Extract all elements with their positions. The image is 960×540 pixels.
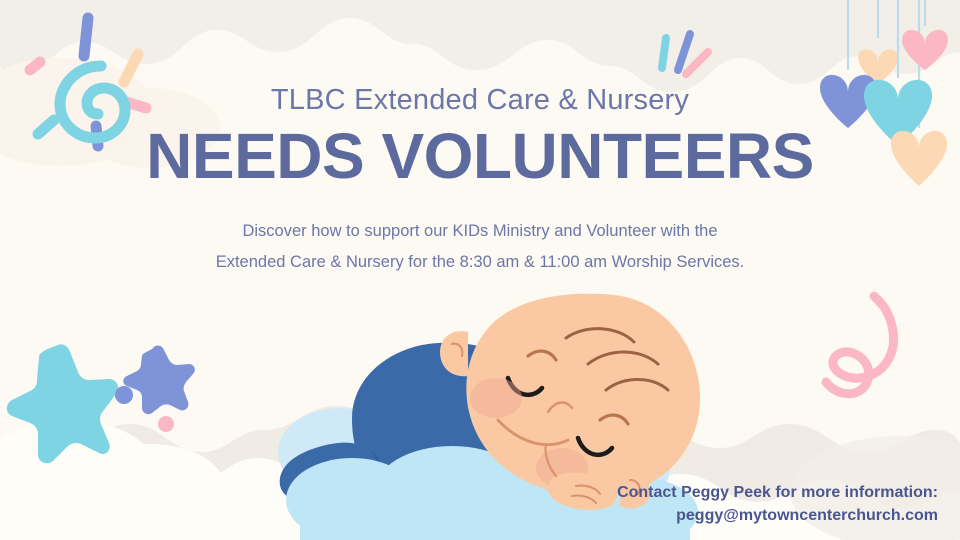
contact-line-1: Contact Peggy Peek for more information:	[617, 481, 938, 504]
contact-block: Contact Peggy Peek for more information:…	[617, 481, 938, 527]
text-layer: TLBC Extended Care & Nursery NEEDS VOLUN…	[0, 0, 960, 540]
contact-email[interactable]: peggy@mytowncenterchurch.com	[617, 504, 938, 527]
body-line-2: Extended Care & Nursery for the 8:30 am …	[0, 247, 960, 278]
body-line-1: Discover how to support our KIDs Ministr…	[0, 216, 960, 247]
poster-canvas: TLBC Extended Care & Nursery NEEDS VOLUN…	[0, 0, 960, 540]
eyebrow-heading: TLBC Extended Care & Nursery	[0, 84, 960, 117]
body-copy: Discover how to support our KIDs Ministr…	[0, 216, 960, 278]
page-title: NEEDS VOLUNTEERS	[0, 119, 960, 193]
